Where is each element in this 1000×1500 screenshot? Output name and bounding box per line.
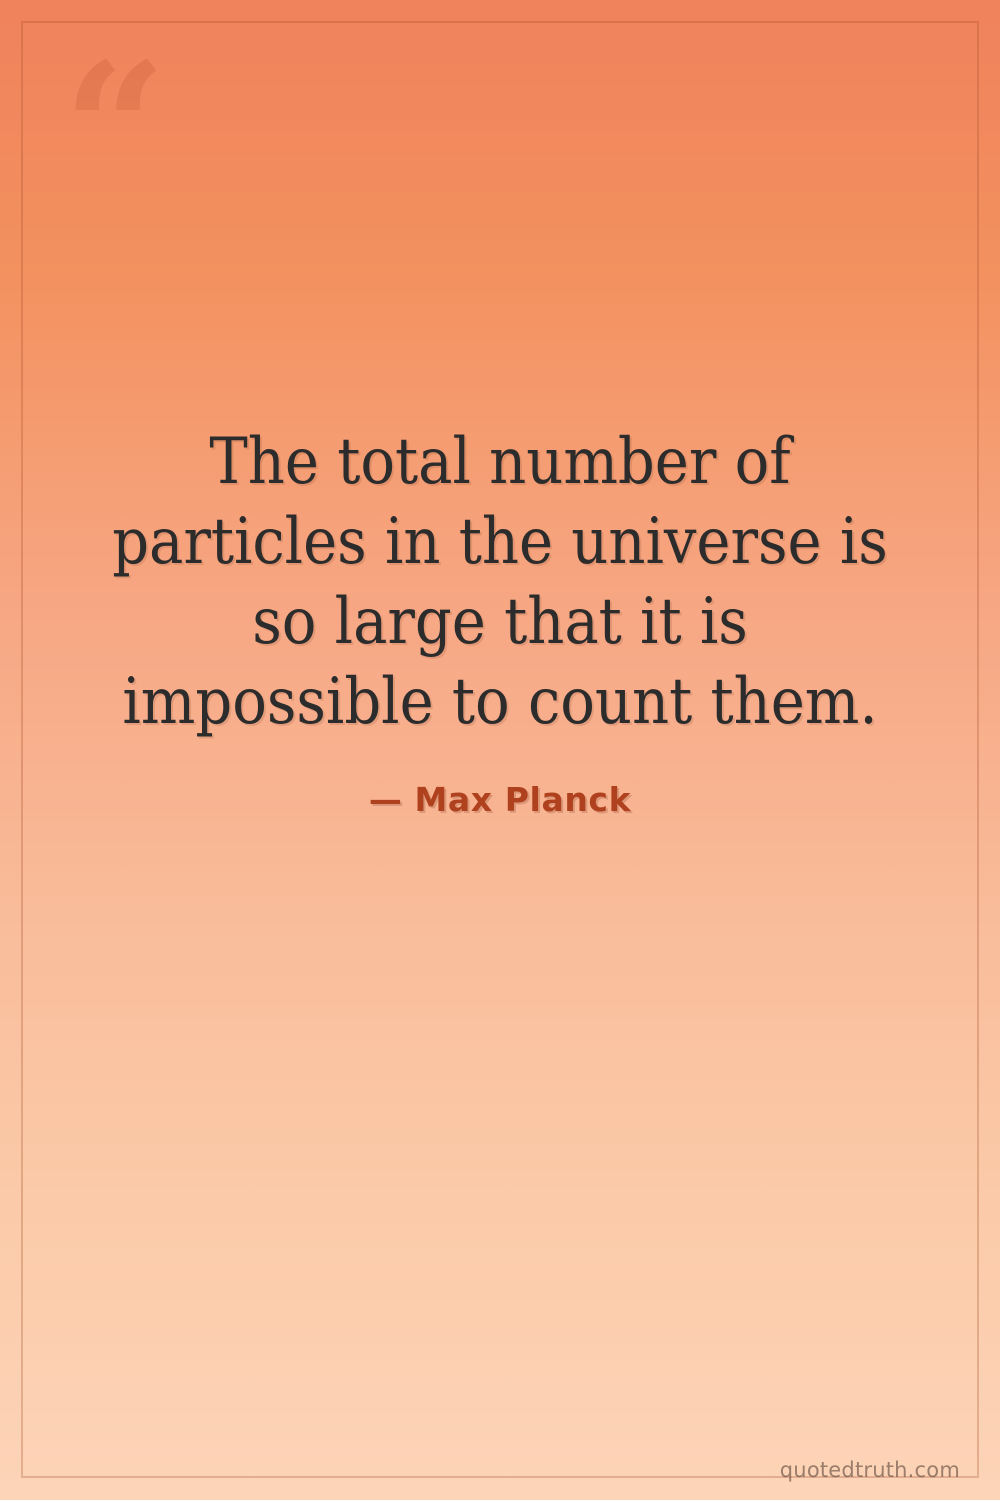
- quote-card: “ The total number of particles in the u…: [0, 0, 1000, 1500]
- quote-attribution: —Max Planck: [369, 780, 631, 819]
- em-dash: —: [369, 780, 403, 819]
- site-watermark: quotedtruth.com: [780, 1458, 960, 1482]
- author-name: Max Planck: [414, 780, 631, 819]
- quote-line-3: so large that it is: [252, 585, 748, 659]
- quote-line-1: The total number of: [209, 425, 790, 499]
- quote-line-2: particles in the universe is: [112, 505, 888, 579]
- quote-text: The total number of particles in the uni…: [100, 422, 900, 742]
- quote-line-4: impossible to count them.: [122, 665, 877, 739]
- quote-content: The total number of particles in the uni…: [0, 0, 1000, 1500]
